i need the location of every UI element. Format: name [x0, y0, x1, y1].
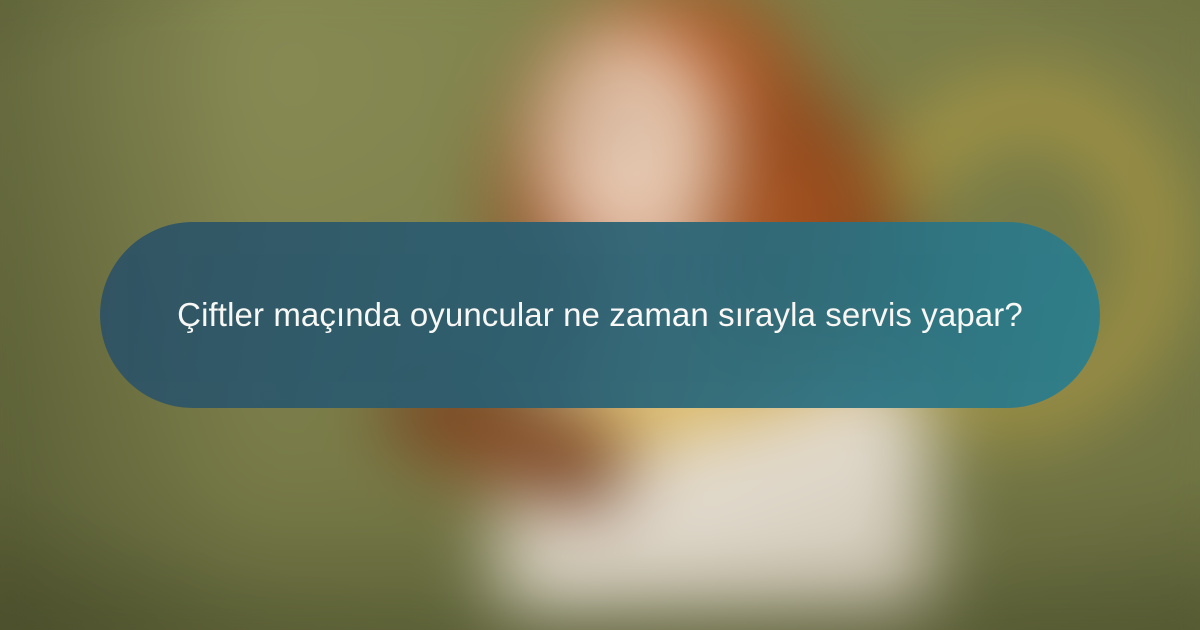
- share-card: Çiftler maçında oyuncular ne zaman sıray…: [0, 0, 1200, 630]
- title-pill: Çiftler maçında oyuncular ne zaman sıray…: [100, 222, 1100, 408]
- page-title: Çiftler maçında oyuncular ne zaman sıray…: [177, 289, 1023, 340]
